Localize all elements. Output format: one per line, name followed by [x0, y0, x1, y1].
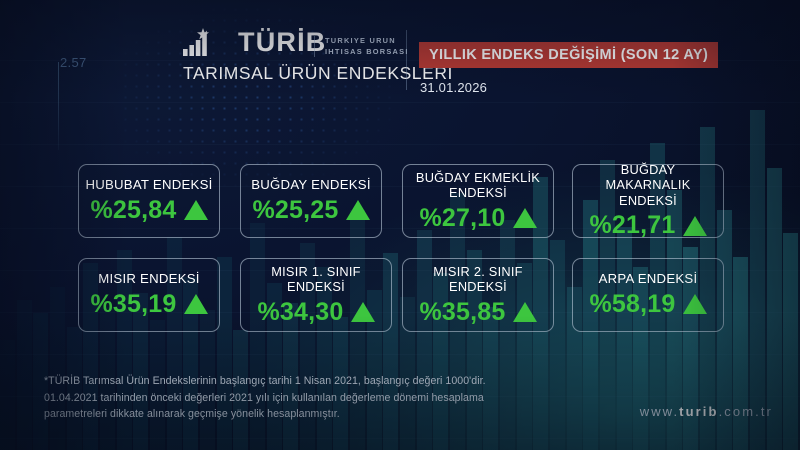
index-card-title: BUĞDAY MAKARNALIK ENDEKSİ: [579, 162, 717, 209]
website-brand: turib: [679, 404, 718, 419]
index-card[interactable]: BUĞDAY ENDEKSİ%25,25: [240, 164, 382, 238]
footnote-line3: parametreleri dikkate alınarak geçmişe y…: [44, 406, 564, 423]
index-card[interactable]: BUĞDAY MAKARNALIK ENDEKSİ%21,71: [572, 164, 724, 238]
index-card-title: BUĞDAY ENDEKSİ: [251, 177, 371, 193]
index-card-value: %35,85: [420, 300, 506, 325]
index-card-value-row: %27,10: [420, 206, 537, 231]
index-card[interactable]: HUBUBAT ENDEKSİ%25,84: [78, 164, 220, 238]
index-card-value-row: %58,19: [590, 292, 707, 317]
index-card-value-row: %34,30: [258, 300, 375, 325]
website-prefix: www.: [640, 404, 679, 419]
index-card-title: ARPA ENDEKSİ: [599, 271, 698, 287]
index-card-title: MISIR 1. SINIF ENDEKSİ: [247, 264, 385, 295]
index-card-value-row: %25,25: [253, 198, 370, 223]
index-card-value-row: %25,84: [91, 198, 208, 223]
index-card-value: %25,84: [91, 198, 177, 223]
up-triangle-icon: [683, 294, 707, 314]
website-url[interactable]: www.turib.com.tr: [640, 404, 773, 419]
up-triangle-icon: [351, 302, 375, 322]
index-card-title: HUBUBAT ENDEKSİ: [85, 177, 212, 193]
up-triangle-icon: [184, 294, 208, 314]
index-card-value: %58,19: [590, 292, 676, 317]
index-card-value: %35,19: [91, 292, 177, 317]
up-triangle-icon: [513, 302, 537, 322]
index-card[interactable]: MISIR 2. SINIF ENDEKSİ%35,85: [402, 258, 554, 332]
index-card-value: %25,25: [253, 198, 339, 223]
footnote: *TÜRİB Tarımsal Ürün Endekslerinin başla…: [44, 373, 564, 423]
index-card[interactable]: MISIR 1. SINIF ENDEKSİ%34,30: [240, 258, 392, 332]
poster-stage: 2.57 TÜRİB TURKIYE URUN IHTISAS BORSA: [0, 0, 800, 450]
index-card[interactable]: ARPA ENDEKSİ%58,19: [572, 258, 724, 332]
index-card-value-row: %35,19: [91, 292, 208, 317]
up-triangle-icon: [513, 208, 537, 228]
up-triangle-icon: [184, 200, 208, 220]
footnote-line1: *TÜRİB Tarımsal Ürün Endekslerinin başla…: [44, 373, 564, 390]
index-card-value: %27,10: [420, 206, 506, 231]
index-card-value-row: %21,71: [590, 213, 707, 238]
website-suffix: .com.tr: [719, 404, 773, 419]
index-card[interactable]: BUĞDAY EKMEKLİK ENDEKSİ%27,10: [402, 164, 554, 238]
footnote-line2: 01.04.2021 tarihinden önceki değerleri 2…: [44, 390, 564, 407]
index-card-value: %21,71: [590, 213, 676, 238]
index-card-title: BUĞDAY EKMEKLİK ENDEKSİ: [409, 170, 547, 201]
index-card-title: MISIR 2. SINIF ENDEKSİ: [409, 264, 547, 295]
index-card-title: MISIR ENDEKSİ: [98, 271, 199, 287]
index-card[interactable]: MISIR ENDEKSİ%35,19: [78, 258, 220, 332]
index-card-value: %34,30: [258, 300, 344, 325]
up-triangle-icon: [346, 200, 370, 220]
up-triangle-icon: [683, 216, 707, 236]
index-card-value-row: %35,85: [420, 300, 537, 325]
